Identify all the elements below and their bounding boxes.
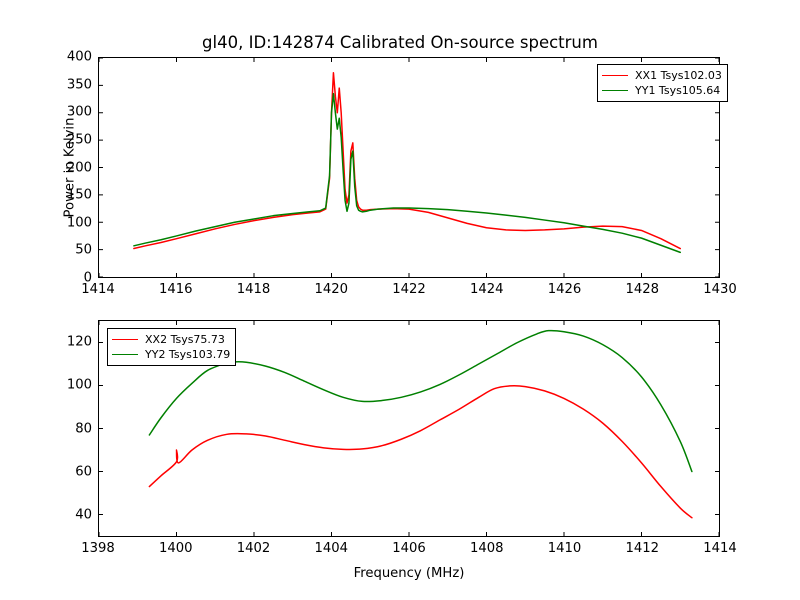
legend-label-yy1: YY1 Tsys105.64 [635,84,720,97]
legend-item: YY2 Tsys103.79 [112,347,230,362]
xtick-label: 1426 [548,282,582,297]
figure-title: gl40, ID:142874 Calibrated On-source spe… [0,33,800,52]
legend-label-xx1: XX1 Tsys102.03 [635,69,722,82]
legend-item: YY1 Tsys105.64 [602,83,722,98]
xtick-label: 1404 [314,541,348,556]
bottom-legend: XX2 Tsys75.73 YY2 Tsys103.79 [107,328,236,366]
xtick-label: 1408 [470,541,504,556]
ytick-label: 0 [36,271,92,286]
legend-swatch-xx1 [602,75,628,76]
ytick-label: 120 [36,334,92,349]
top-ylabel: Power in Kelvin [63,88,78,248]
figure-canvas: gl40, ID:142874 Calibrated On-source spe… [0,0,800,600]
xtick-label: 1420 [314,282,348,297]
legend-label-yy2: YY2 Tsys103.79 [145,348,230,361]
legend-swatch-yy1 [602,90,628,91]
xtick-label: 1430 [703,282,737,297]
legend-item: XX2 Tsys75.73 [112,332,230,347]
ytick-label: 400 [36,50,92,65]
xtick-label: 1398 [81,541,115,556]
xtick-label: 1428 [625,282,659,297]
legend-label-xx2: XX2 Tsys75.73 [145,333,225,346]
xtick-label: 1416 [159,282,193,297]
ytick-label: 100 [36,378,92,393]
ytick-label: 60 [36,464,92,479]
xtick-label: 1406 [392,541,426,556]
legend-swatch-yy2 [112,354,138,355]
xtick-label: 1402 [237,541,271,556]
legend-item: XX1 Tsys102.03 [602,68,722,83]
xtick-label: 1412 [625,541,659,556]
legend-swatch-xx2 [112,339,138,340]
ytick-label: 80 [36,421,92,436]
xtick-label: 1414 [703,541,737,556]
bottom-xlabel: Frequency (MHz) [98,566,720,581]
xtick-label: 1422 [392,282,426,297]
xtick-label: 1410 [548,541,582,556]
ytick-label: 40 [36,508,92,523]
xtick-label: 1418 [237,282,271,297]
top-legend: XX1 Tsys102.03 YY1 Tsys105.64 [597,64,728,102]
xtick-label: 1400 [159,541,193,556]
xtick-label: 1424 [470,282,504,297]
